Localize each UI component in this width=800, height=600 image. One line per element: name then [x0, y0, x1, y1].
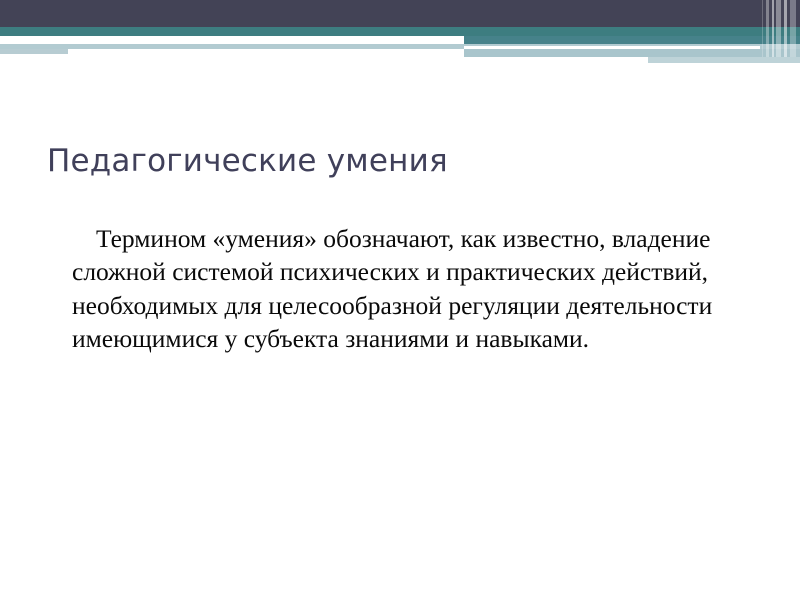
header-band-teal [0, 27, 800, 36]
header-band-pale-left [0, 49, 68, 54]
slide-title: Педагогические умения [47, 143, 753, 180]
header-band-dark [0, 0, 800, 27]
slide-body-text: Термином «умения» обозначают, как извест… [72, 222, 762, 356]
header-band-teal-step [464, 36, 800, 44]
header-decoration [0, 0, 800, 70]
header-stripe-3 [776, 0, 781, 57]
header-stripe-5 [790, 0, 796, 57]
header-stripe-2 [772, 0, 774, 57]
slide-canvas: Педагогические умения Термином «умения» … [0, 0, 800, 600]
header-stripe-4 [784, 0, 787, 57]
header-stripe-1 [766, 0, 769, 57]
header-stripe-6 [762, 0, 763, 57]
header-band-pale-two [464, 49, 800, 57]
header-band-pale-three [648, 57, 800, 63]
header-band-white-gap [0, 36, 464, 44]
